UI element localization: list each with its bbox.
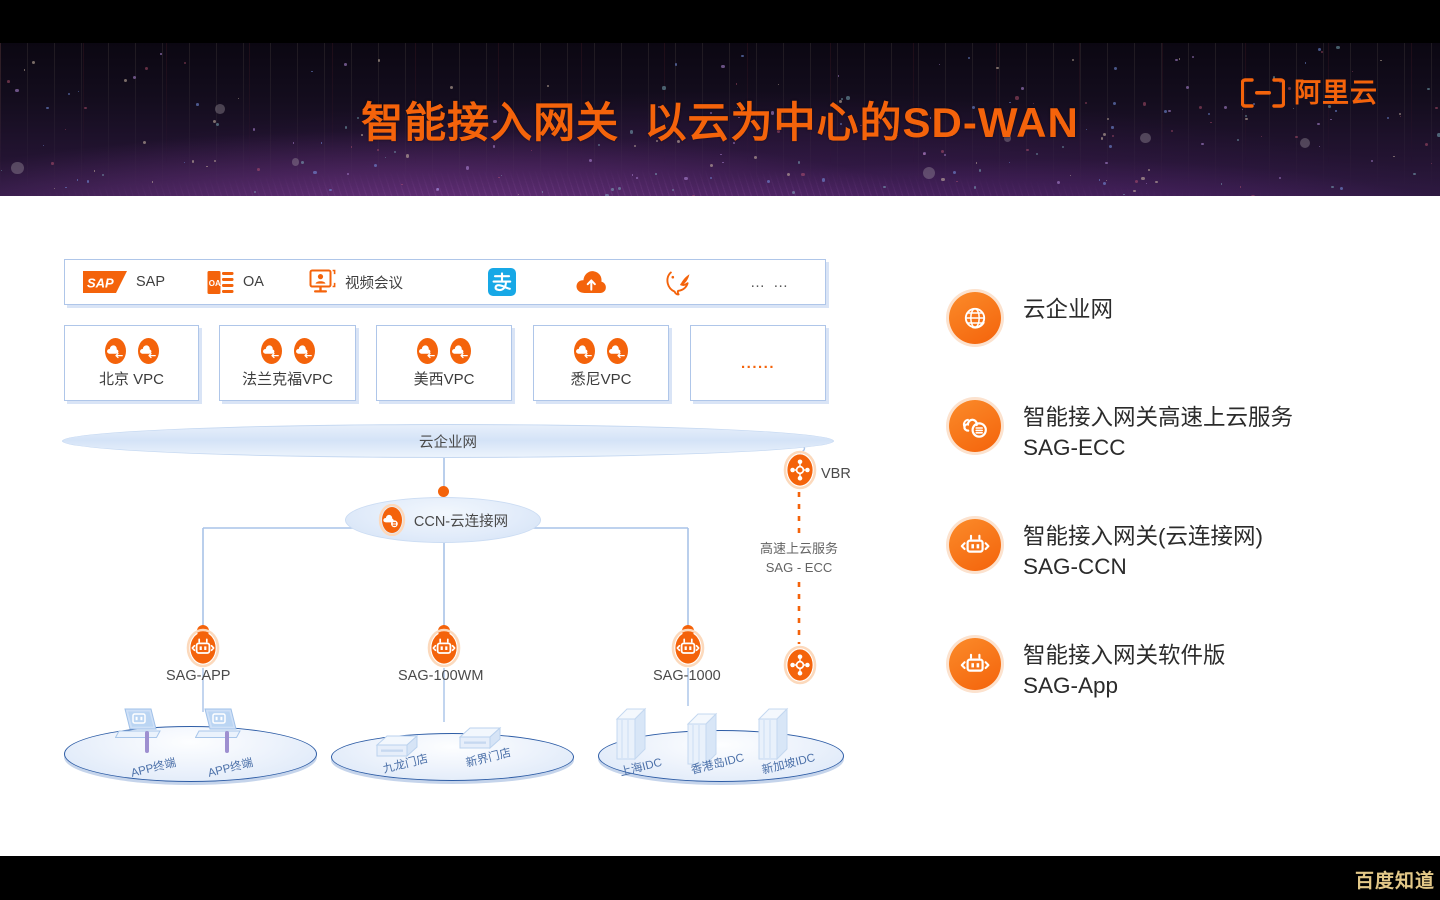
legend-panel: 云企业网 智能接入网关高速上云服务 SAG-ECC — [949, 292, 1379, 757]
vbr-label: VBR — [821, 466, 851, 482]
alibaba-cloud-logo-icon — [1241, 78, 1285, 108]
sag-device-icon — [427, 628, 461, 668]
vpc-card-more[interactable]: ...... — [690, 325, 826, 401]
legend-item-cen[interactable]: 云企业网 — [949, 292, 1379, 344]
vpc-card-beijing[interactable]: 北京 VPC — [64, 325, 199, 401]
platter-retail-stores — [331, 733, 574, 781]
legend-line2: SAG-CCN — [1023, 552, 1263, 582]
vpc-label: ...... — [741, 355, 775, 372]
sag-node-1000[interactable] — [671, 628, 705, 668]
cloud-enterprise-network-label: 云企业网 — [419, 431, 477, 452]
sag-device-icon — [959, 648, 991, 680]
legend-line2: SAG-ECC — [1023, 433, 1293, 463]
vpc-icon-pair — [103, 337, 161, 365]
legend-text-sag-ecc: 智能接入网关高速上云服务 SAG-ECC — [1023, 400, 1293, 463]
app-item-video-conference[interactable]: 视频会议 — [308, 260, 403, 304]
vpc-card-frankfurt[interactable]: 法兰克福VPC — [219, 325, 356, 401]
vbr-node[interactable] — [783, 450, 817, 490]
vpc-cloud-icon — [605, 337, 630, 365]
laptop-icon — [195, 707, 241, 743]
app-item-dolphin[interactable] — [665, 260, 692, 304]
brand-name: 阿里云 — [1294, 80, 1378, 107]
vbr-router-icon — [783, 450, 817, 490]
sap-logo-icon: SAP — [83, 271, 127, 293]
slide-root: 智能接入网关 以云为中心的SD-WAN 阿里云 SAP — [0, 0, 1440, 900]
app-terminal-stand — [225, 731, 229, 753]
ecc-cloud-icon-wrap — [949, 400, 1001, 452]
legend-item-sag-app[interactable]: 智能接入网关软件版 SAG-App — [949, 638, 1379, 701]
sag-ecc-line2: SAG - ECC — [746, 558, 852, 577]
sag-node-app[interactable] — [186, 628, 220, 668]
app-more-dots: … … — [750, 274, 790, 291]
sag-device-icon — [671, 628, 705, 668]
svg-text:SAP: SAP — [87, 276, 114, 291]
legend-text-sag-ccn: 智能接入网关(云连接网) SAG-CCN — [1023, 519, 1263, 582]
video-conference-icon — [308, 269, 336, 295]
vpc-label: 美西VPC — [414, 368, 475, 389]
globe-icon-wrap — [949, 292, 1001, 344]
app-label-sap: SAP — [136, 274, 165, 290]
sag-ecc-annotation: 高速上云服务 SAG - ECC — [746, 539, 852, 577]
vpc-icon-pair — [259, 337, 317, 365]
sag-device-icon-wrap — [949, 638, 1001, 690]
vpc-card-sydney[interactable]: 悉尼VPC — [533, 325, 669, 401]
legend-item-sag-ecc[interactable]: 智能接入网关高速上云服务 SAG-ECC — [949, 400, 1379, 463]
sag-label-100wm: SAG-100WM — [398, 668, 483, 684]
globe-icon — [961, 304, 989, 332]
sag-device-icon — [186, 628, 220, 668]
vpc-cloud-icon — [572, 337, 597, 365]
vpc-label: 悉尼VPC — [571, 368, 632, 389]
legend-line2: SAG-App — [1023, 671, 1226, 701]
legend-text-sag-app: 智能接入网关软件版 SAG-App — [1023, 638, 1226, 701]
letterbox-top — [0, 0, 1440, 43]
ccn-label: CCN-云连接网 — [414, 510, 508, 531]
app-item-oa[interactable]: OA OA — [207, 260, 264, 304]
sag-node-100wm[interactable] — [427, 628, 461, 668]
vpc-cloud-icon — [259, 337, 284, 365]
vpc-icon-pair — [572, 337, 630, 365]
legend-line1: 智能接入网关软件版 — [1023, 641, 1226, 671]
platter-app-terminals — [64, 726, 317, 782]
letterbox-bottom — [0, 856, 1440, 900]
vbr-router-icon — [783, 645, 817, 685]
svg-text:OA: OA — [209, 279, 221, 288]
sag-device-icon-wrap — [949, 519, 1001, 571]
app-item-cloud-upload[interactable] — [575, 260, 607, 304]
sag-label-app: SAG-APP — [166, 668, 230, 684]
cloud-enterprise-network-ellipse[interactable]: 云企业网 — [62, 424, 834, 458]
laptop-icon — [115, 707, 161, 743]
app-label-oa: OA — [243, 274, 264, 290]
legend-item-sag-ccn[interactable]: 智能接入网关(云连接网) SAG-CCN — [949, 519, 1379, 582]
app-label-video-conference: 视频会议 — [345, 272, 403, 293]
vpc-cloud-icon — [103, 337, 128, 365]
ecc-endpoint-node[interactable] — [783, 645, 817, 685]
watermark: 百度知道 — [1355, 866, 1435, 893]
oa-icon: OA — [207, 270, 234, 295]
alipay-icon — [488, 268, 516, 296]
legend-line1: 云企业网 — [1023, 295, 1113, 325]
app-item-sap[interactable]: SAP SAP — [83, 260, 165, 304]
legend-text-cen: 云企业网 — [1023, 292, 1113, 325]
vpc-label: 北京 VPC — [99, 368, 164, 389]
brand-logo: 阿里云 — [1241, 78, 1378, 108]
application-bar: SAP SAP OA OA — [64, 259, 826, 305]
vpc-cloud-icon — [292, 337, 317, 365]
vpc-card-us-west[interactable]: 美西VPC — [376, 325, 512, 401]
cloud-upload-icon — [575, 269, 607, 295]
dolphin-icon — [665, 268, 692, 296]
ccn-node-icon — [378, 504, 406, 536]
sag-ecc-line1: 高速上云服务 — [746, 539, 852, 558]
app-item-alipay[interactable] — [488, 260, 516, 304]
legend-line1: 智能接入网关(云连接网) — [1023, 522, 1263, 552]
ecc-cloud-icon — [960, 411, 990, 441]
ccn-connector-dot — [438, 486, 449, 497]
sag-device-icon — [959, 529, 991, 561]
app-terminal-stand — [145, 731, 149, 753]
vpc-cloud-icon — [448, 337, 473, 365]
vpc-label: 法兰克福VPC — [242, 368, 333, 389]
legend-line1: 智能接入网关高速上云服务 — [1023, 403, 1293, 433]
vpc-cloud-icon — [415, 337, 440, 365]
ccn-ellipse[interactable]: CCN-云连接网 — [345, 497, 541, 543]
vpc-icon-pair — [415, 337, 473, 365]
page-title: 智能接入网关 以云为中心的SD-WAN — [0, 43, 1440, 196]
vpc-cloud-icon — [136, 337, 161, 365]
sag-label-1000: SAG-1000 — [653, 668, 721, 684]
